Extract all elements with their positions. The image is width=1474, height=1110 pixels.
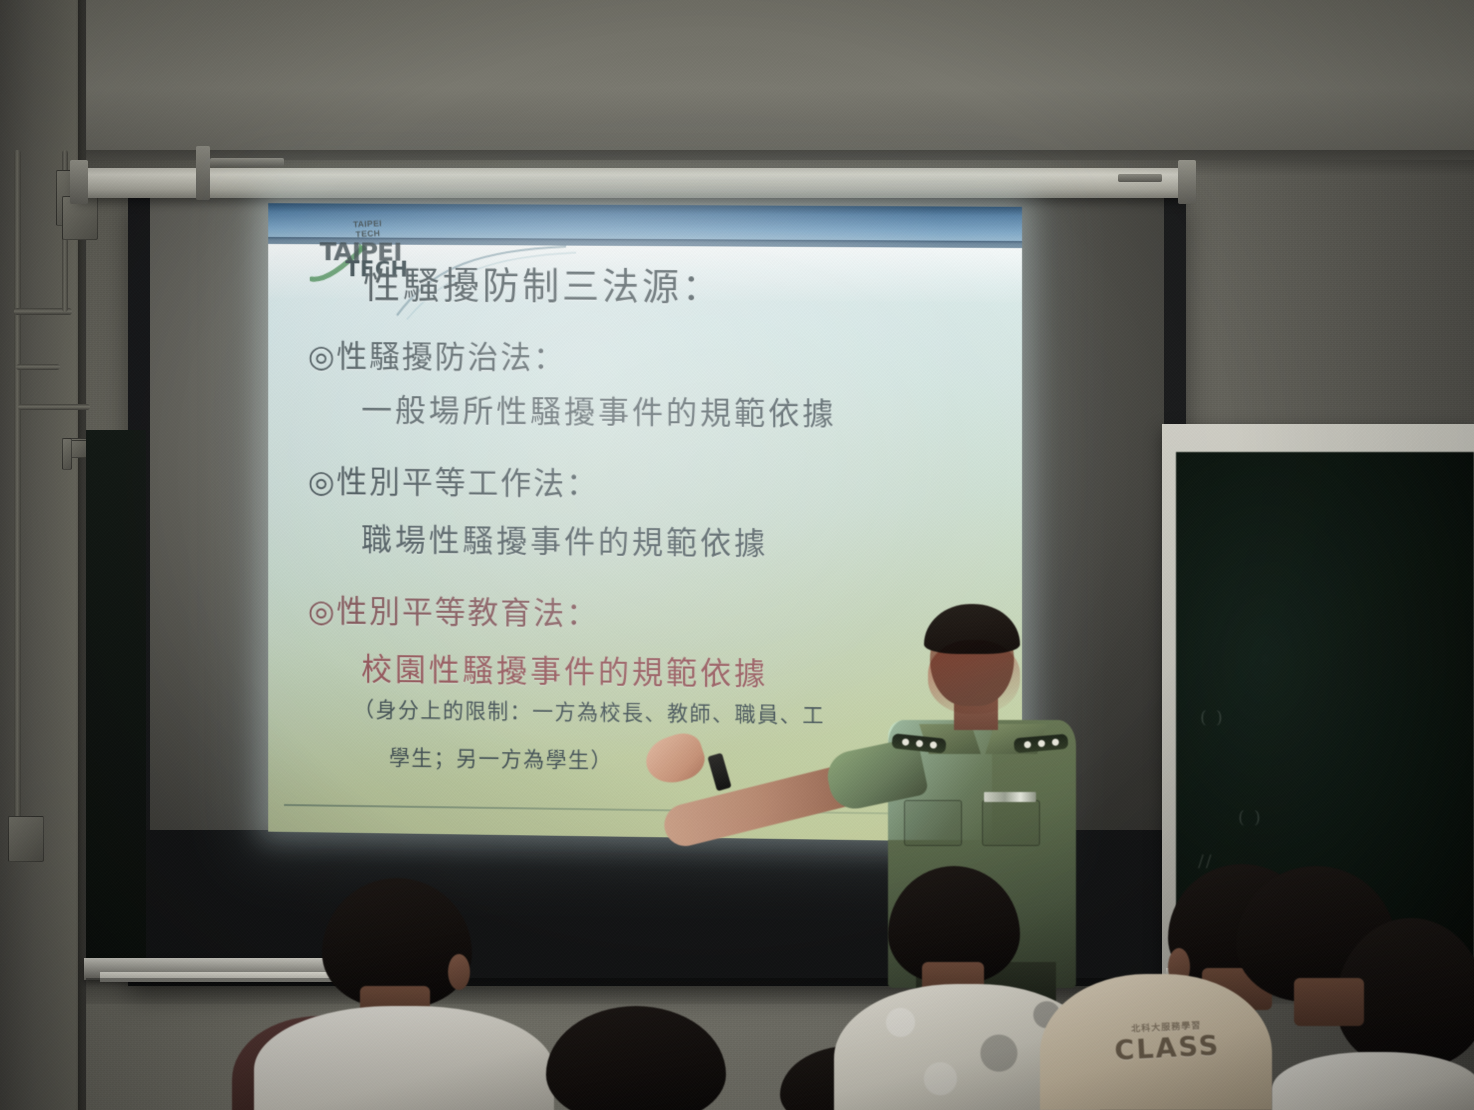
rank-pip [930,741,938,749]
chalk-mark-1: ( ) [1200,708,1225,728]
student-head [546,1006,726,1110]
wall-conduit-vertical [14,150,21,850]
slide-item-2-heading: ◎性別平等工作法： [308,456,599,503]
conduit-clip-2 [62,438,72,470]
slide-item-1-detail: 一般場所性騷擾事件的規範依據 [361,385,836,434]
student-center [546,1006,746,1110]
student-ear [448,954,470,990]
student-body [1272,1052,1474,1110]
slide-item-3-heading: ◎性別平等教育法： [308,585,599,633]
wall-conduit-branch-3 [18,404,90,410]
student-far-right [1216,866,1474,1110]
rank-pip [902,738,910,746]
screen-roller-cap-left [70,160,88,204]
wall-conduit-branch-2 [16,364,60,370]
student-front-left [276,878,556,1110]
screen-roller-cap-right [1178,160,1196,204]
slide-item-2-detail: 職場性騷擾事件的規範依據 [361,514,768,563]
slide-title: 性騷擾防制三法源： [363,255,722,311]
slide-note-line-2: 學生；另一方為學生） [389,742,613,775]
rank-pip [1052,738,1060,746]
screen-mount-bracket-left [196,146,210,200]
chalk-mark-2: ( ) [1238,808,1263,828]
presenter-face-projection [928,640,1020,714]
slide-item-1-heading: ◎性騷擾防治法： [308,331,566,378]
screen-roller-housing[interactable] [76,168,1186,198]
slide-note-line-1: （身分上的限制：一方為校長、教師、職員、工 [353,693,825,729]
screen-mount-bracket-right [1118,174,1162,182]
ceiling-band [0,0,1474,160]
classroom-photo: TAIPEI TECH TAIPEI TECH 性騷擾防制三法源： ◎性騷擾防治… [0,0,1474,1110]
presenter-name-tag [984,792,1036,802]
presenter-pocket-right [982,800,1040,846]
left-blackboard [86,430,146,976]
slide-item-3-detail: 校園性騷擾事件的規範依據 [361,644,768,694]
rank-pip [916,740,924,748]
student-neck [1294,978,1364,1026]
presenter-pocket-left [904,800,962,846]
student-body [254,1006,554,1110]
wall-outlet[interactable] [8,816,44,862]
rank-pip [1038,740,1046,748]
screen-mount-arm [210,158,284,167]
rank-pip [1024,741,1032,749]
